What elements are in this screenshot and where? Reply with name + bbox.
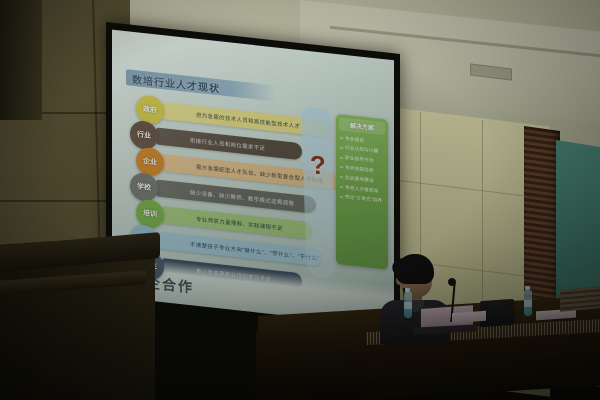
books [560, 286, 600, 311]
question-band [301, 107, 337, 280]
desk-left-block [256, 328, 366, 400]
left-wall-shadow [0, 0, 42, 120]
solution-item-list: 专业规划行业认知与兴趣职业指导方向专项技能培养实训基地建设专项人才推荐库校企"订… [339, 133, 385, 206]
question-mark-icon: ? [309, 150, 326, 182]
solution-panel: 解决方案 专业规划行业认知与兴趣职业指导方向专项技能培养实训基地建设专项人才推荐… [336, 114, 388, 270]
bottle-cap [405, 288, 410, 292]
bottle-cap [525, 286, 530, 290]
solution-panel-header: 解决方案 [339, 117, 385, 135]
microphone-head [448, 278, 456, 286]
lecture-hall-photo: 数培行业人才现状 把为急需的技术人员和高技能型技术人才政府衔接行业人员和岗位需求… [0, 0, 600, 400]
slide-row-text: 衔接行业人员和岗位需求不足 [156, 132, 265, 152]
bottle-label [404, 302, 412, 309]
bottle-label [524, 300, 532, 307]
slide-title: 数培行业人才现状 [126, 70, 220, 95]
